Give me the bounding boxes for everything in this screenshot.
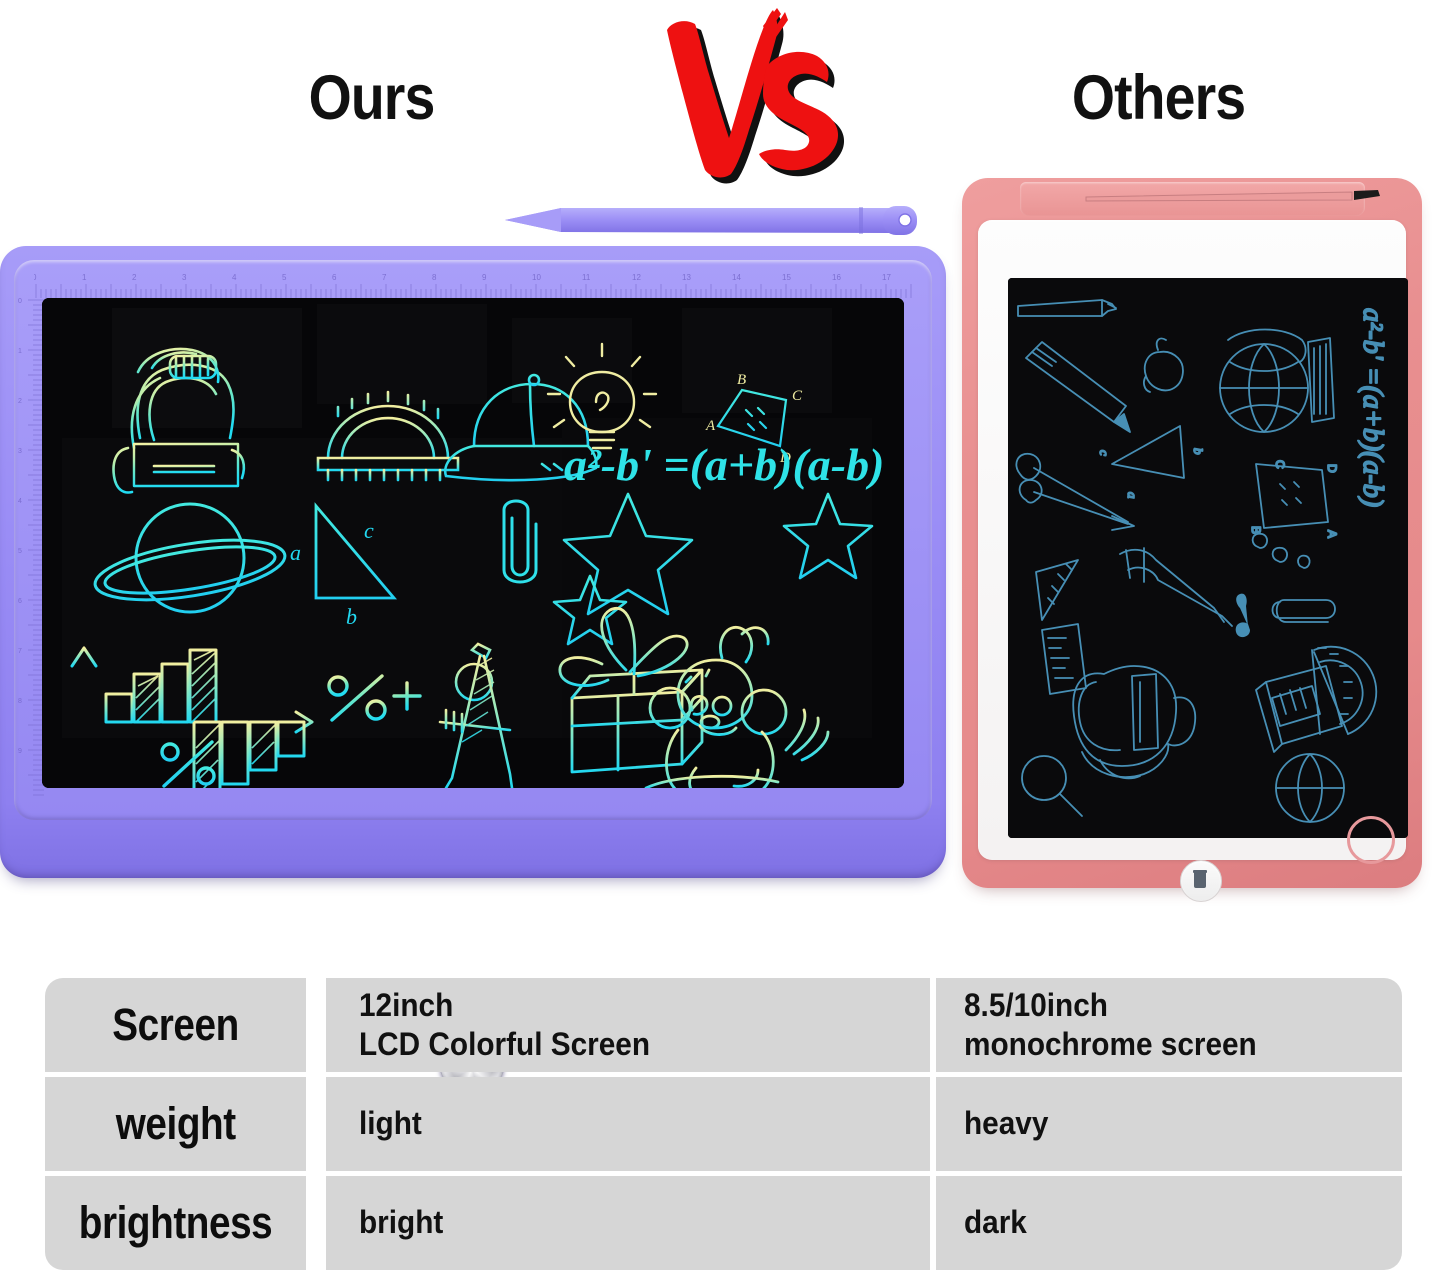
svg-text:4: 4 [18, 498, 22, 505]
ours-value-cell: light [326, 1077, 930, 1171]
comparison-table: Screen 12inch LCD Colorful Screen 8.5/10… [45, 978, 1402, 1276]
row-label-cell: weight [45, 1077, 306, 1171]
ours-tablet: 01234567891011121314151617 012345678910 [0, 246, 946, 878]
svg-text:12: 12 [632, 273, 641, 282]
svg-text:D: D [1325, 464, 1339, 473]
svg-text:c: c [364, 518, 374, 543]
others-corner-ring [1347, 816, 1395, 864]
svg-text:8: 8 [432, 273, 437, 282]
svg-text:9: 9 [482, 273, 487, 282]
comparison-header: Ours Others [0, 0, 1442, 195]
row-label: weight [116, 1098, 236, 1150]
svg-text:A: A [705, 418, 716, 434]
ours-stylus[interactable] [503, 202, 923, 238]
svg-text:7: 7 [18, 648, 22, 655]
others-erase-button[interactable] [1180, 860, 1222, 902]
table-row: Screen 12inch LCD Colorful Screen 8.5/10… [45, 978, 1402, 1072]
svg-text:10: 10 [532, 273, 541, 282]
others-tablet-body: c b a C D B A a²-b [962, 178, 1422, 888]
table-row: brightness bright dark [45, 1176, 1402, 1270]
svg-text:5: 5 [18, 548, 22, 555]
svg-text:0: 0 [34, 273, 37, 282]
others-heading: Others [1072, 62, 1245, 134]
others-value: heavy [964, 1104, 1048, 1143]
svg-text:4: 4 [232, 273, 237, 282]
ours-value-cell: 12inch LCD Colorful Screen [326, 978, 930, 1072]
ours-heading: Ours [309, 62, 435, 134]
svg-text:b: b [1191, 448, 1206, 455]
svg-text:3: 3 [18, 448, 22, 455]
svg-text:1: 1 [82, 273, 87, 282]
others-value-cell: heavy [936, 1077, 1402, 1171]
row-label-cell: brightness [45, 1176, 306, 1270]
svg-text:6: 6 [332, 273, 337, 282]
others-formula-text: a²-b' =(a+b)(a-b) [1357, 308, 1388, 507]
ours-value: 12inch LCD Colorful Screen [359, 986, 650, 1064]
row-label: Screen [112, 999, 239, 1051]
ours-value: bright [359, 1203, 443, 1242]
ours-value-cell: bright [326, 1176, 930, 1270]
ours-lcd-screen[interactable]: A B C D a²-b' =(a+b)(a-b) [42, 298, 904, 788]
ours-tablet-body: 01234567891011121314151617 012345678910 [0, 246, 946, 878]
ours-value: light [359, 1104, 422, 1143]
svg-text:2: 2 [18, 398, 22, 405]
others-value-cell: 8.5/10inch monochrome screen [936, 978, 1402, 1072]
svg-text:11: 11 [582, 273, 591, 282]
svg-text:13: 13 [682, 273, 691, 282]
svg-text:14: 14 [732, 273, 741, 282]
others-tablet: c b a C D B A a²-b [962, 178, 1422, 888]
ours-formula-text: a²-b' =(a+b)(a-b) [564, 439, 884, 490]
svg-text:C: C [1273, 460, 1287, 469]
svg-text:c: c [1097, 450, 1112, 456]
row-label: brightness [79, 1197, 273, 1249]
ruler-scale-top: 01234567891011121314151617 [34, 268, 914, 298]
svg-text:9: 9 [18, 748, 22, 755]
svg-text:b: b [346, 604, 357, 629]
svg-text:3: 3 [182, 273, 187, 282]
svg-text:16: 16 [832, 273, 841, 282]
table-row: weight light heavy [45, 1077, 1402, 1171]
others-lcd-screen[interactable]: c b a C D B A a²-b [1008, 278, 1408, 838]
others-value: 8.5/10inch monochrome screen [964, 986, 1257, 1064]
svg-text:17: 17 [882, 273, 891, 282]
svg-text:6: 6 [18, 598, 22, 605]
others-value-cell: dark [936, 1176, 1402, 1270]
svg-text:a: a [1125, 492, 1140, 499]
others-stylus[interactable] [1082, 186, 1382, 206]
svg-text:a: a [290, 540, 301, 565]
vs-badge [655, 8, 855, 188]
svg-text:0: 0 [18, 298, 22, 305]
svg-text:15: 15 [782, 273, 791, 282]
ruler-scale-left: 012345678910 [18, 298, 44, 798]
svg-text:7: 7 [382, 273, 387, 282]
product-comparison-page: Ours Others [0, 0, 1442, 1284]
svg-text:B: B [1249, 526, 1263, 534]
others-value: dark [964, 1203, 1027, 1242]
svg-text:C: C [792, 388, 803, 404]
svg-text:B: B [737, 372, 746, 388]
svg-text:8: 8 [18, 698, 22, 705]
row-label-cell: Screen [45, 978, 306, 1072]
others-bezel: c b a C D B A a²-b [978, 220, 1406, 860]
svg-text:2: 2 [132, 273, 137, 282]
svg-text:5: 5 [282, 273, 287, 282]
svg-text:A: A [1325, 530, 1339, 538]
tablets-row: 01234567891011121314151617 012345678910 [0, 190, 1442, 900]
svg-text:1: 1 [18, 348, 22, 355]
